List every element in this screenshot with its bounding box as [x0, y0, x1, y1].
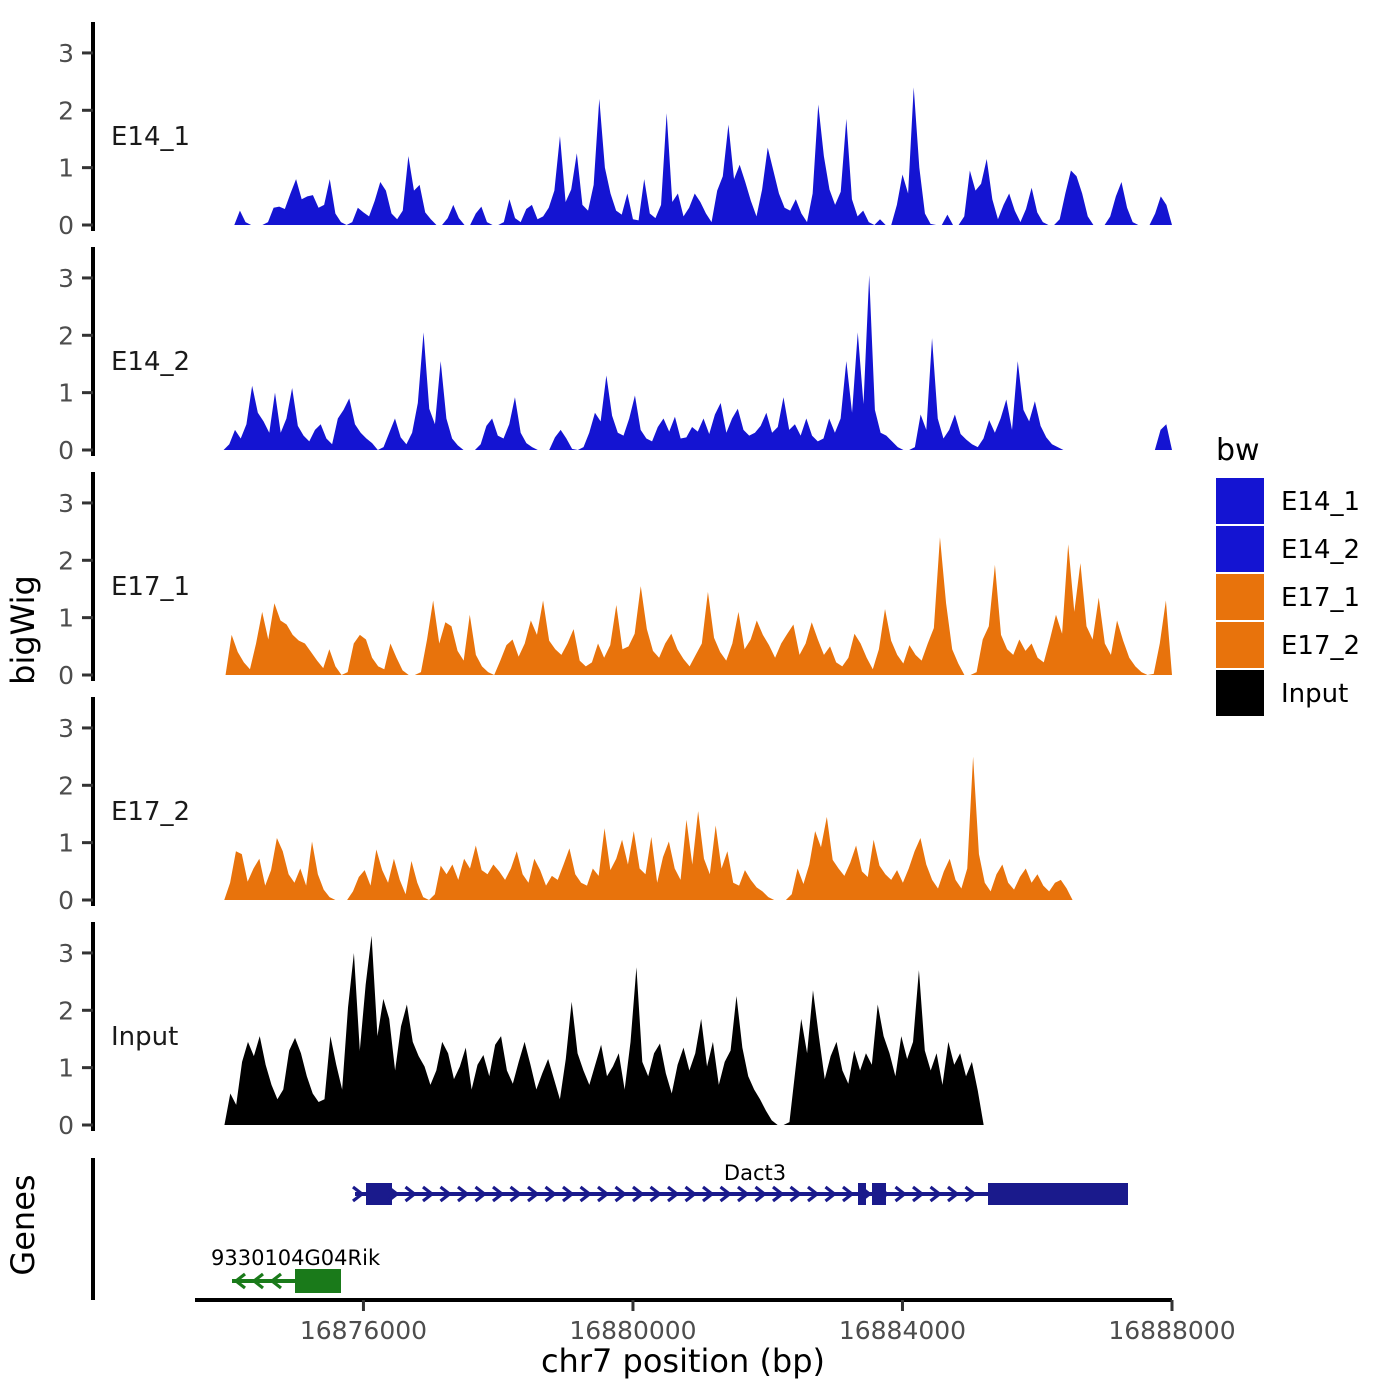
y-tick-label: 1 — [58, 379, 74, 408]
track-area-segment — [342, 635, 409, 675]
legend-label: E14_1 — [1281, 487, 1360, 517]
legend: bwE14_1E14_2E17_1E17_2Input — [1216, 433, 1360, 716]
track-area-segment — [784, 970, 984, 1125]
gene-9330104g04rik[interactable]: 9330104G04Rik — [211, 1246, 381, 1293]
track-area-segment — [378, 332, 464, 450]
track-label-e17_1: E17_1 — [111, 572, 190, 602]
track-label-e14_2: E14_2 — [111, 347, 190, 377]
y-tick-label: 0 — [58, 1111, 74, 1140]
legend-swatch — [1216, 622, 1264, 668]
legend-label: E14_2 — [1281, 535, 1360, 565]
track-label-e17_2: E17_2 — [111, 797, 190, 827]
legend-item-e14_2[interactable]: E14_2 — [1216, 526, 1360, 572]
gene-exon — [366, 1183, 392, 1205]
genome-browser-figure: bigWig Genes chr7 position (bp) 0123E14_… — [0, 0, 1400, 1400]
track-area-segment — [1155, 424, 1172, 450]
y-tick-label: 3 — [58, 39, 74, 68]
track-e17_2: 0123E17_2 — [58, 697, 1072, 915]
track-label-input: Input — [111, 1022, 178, 1052]
legend-label: E17_2 — [1281, 631, 1360, 661]
track-area-segment — [1054, 171, 1093, 225]
track-area-segment — [942, 215, 953, 225]
track-label-e14_1: E14_1 — [111, 122, 190, 152]
x-axis-title: chr7 position (bp) — [541, 1342, 825, 1380]
y-axis-title: bigWig — [4, 575, 42, 685]
x-tick-label: 16888000 — [1108, 1316, 1235, 1345]
legend-item-e17_1[interactable]: E17_1 — [1216, 574, 1360, 620]
track-e17_1: 0123E17_1 — [58, 472, 1172, 690]
y-tick-label: 3 — [58, 264, 74, 293]
track-area-segment — [262, 179, 346, 225]
gene-exon — [988, 1183, 1128, 1205]
track-area-segment — [347, 156, 437, 225]
y-tick-label: 1 — [58, 829, 74, 858]
track-area-segment — [786, 757, 1073, 900]
track-area-segment — [909, 338, 1063, 450]
y-tick-label: 0 — [58, 436, 74, 465]
track-area-segment — [549, 430, 578, 450]
y-tick-label: 3 — [58, 489, 74, 518]
y-tick-label: 2 — [58, 996, 74, 1025]
track-area-segment — [470, 207, 492, 225]
genes-axis-title: Genes — [4, 1174, 42, 1275]
track-area-segment — [891, 87, 936, 225]
y-tick-label: 1 — [58, 1054, 74, 1083]
track-panels: 0123E14_10123E14_20123E17_10123E17_20123… — [58, 22, 1172, 1140]
y-tick-label: 1 — [58, 604, 74, 633]
track-area-segment — [226, 603, 342, 675]
track-input: 0123Input — [58, 922, 984, 1140]
legend-swatch — [1216, 574, 1264, 620]
y-tick-label: 2 — [58, 96, 74, 125]
track-area-segment — [234, 211, 251, 225]
track-e14_1: 0123E14_1 — [58, 22, 1172, 240]
legend-item-e17_2[interactable]: E17_2 — [1216, 622, 1360, 668]
legend-swatch — [1216, 670, 1264, 716]
track-area-segment — [429, 811, 774, 900]
legend-item-e14_1[interactable]: E14_1 — [1216, 478, 1360, 524]
track-area-segment — [1105, 182, 1139, 225]
track-area-segment — [578, 275, 904, 450]
x-tick-label: 16884000 — [839, 1316, 966, 1345]
y-tick-label: 2 — [58, 321, 74, 350]
track-area-segment — [224, 386, 378, 450]
legend-item-input[interactable]: Input — [1216, 670, 1348, 716]
y-tick-label: 0 — [58, 211, 74, 240]
x-axis: 16876000168800001688400016888000 — [195, 1300, 1236, 1345]
track-area-segment — [224, 838, 335, 900]
y-tick-label: 2 — [58, 546, 74, 575]
y-tick-label: 2 — [58, 771, 74, 800]
y-tick-label: 0 — [58, 661, 74, 690]
y-tick-label: 0 — [58, 886, 74, 915]
track-area-segment — [970, 544, 1147, 675]
track-area-segment — [224, 936, 777, 1125]
gene-exon — [295, 1269, 341, 1293]
gene-label-9330104g04rik: 9330104G04Rik — [211, 1246, 381, 1270]
track-area-segment — [415, 600, 494, 675]
y-tick-label: 1 — [58, 154, 74, 183]
x-tick-label: 16876000 — [300, 1316, 427, 1345]
track-e14_2: 0123E14_2 — [58, 247, 1172, 465]
legend-title: bw — [1216, 433, 1260, 468]
legend-label: Input — [1281, 679, 1348, 709]
gene-label-dact3: Dact3 — [724, 1161, 786, 1185]
track-area-segment — [959, 159, 1049, 225]
track-area-segment — [498, 99, 874, 225]
y-tick-label: 3 — [58, 939, 74, 968]
legend-swatch — [1216, 478, 1264, 524]
track-area-segment — [1150, 196, 1172, 225]
track-area-segment — [347, 850, 429, 900]
track-area-segment — [494, 537, 964, 675]
gene-dact3[interactable]: Dact3 — [353, 1161, 1128, 1205]
track-area-segment — [874, 219, 885, 225]
track-area-segment — [475, 397, 538, 450]
track-area-segment — [442, 205, 464, 225]
x-tick-label: 16880000 — [569, 1316, 696, 1345]
y-tick-label: 3 — [58, 714, 74, 743]
legend-label: E17_1 — [1281, 583, 1360, 613]
legend-swatch — [1216, 526, 1264, 572]
track-area-segment — [1148, 600, 1172, 675]
genes-panel: Dact39330104G04Rik — [93, 1158, 1128, 1300]
